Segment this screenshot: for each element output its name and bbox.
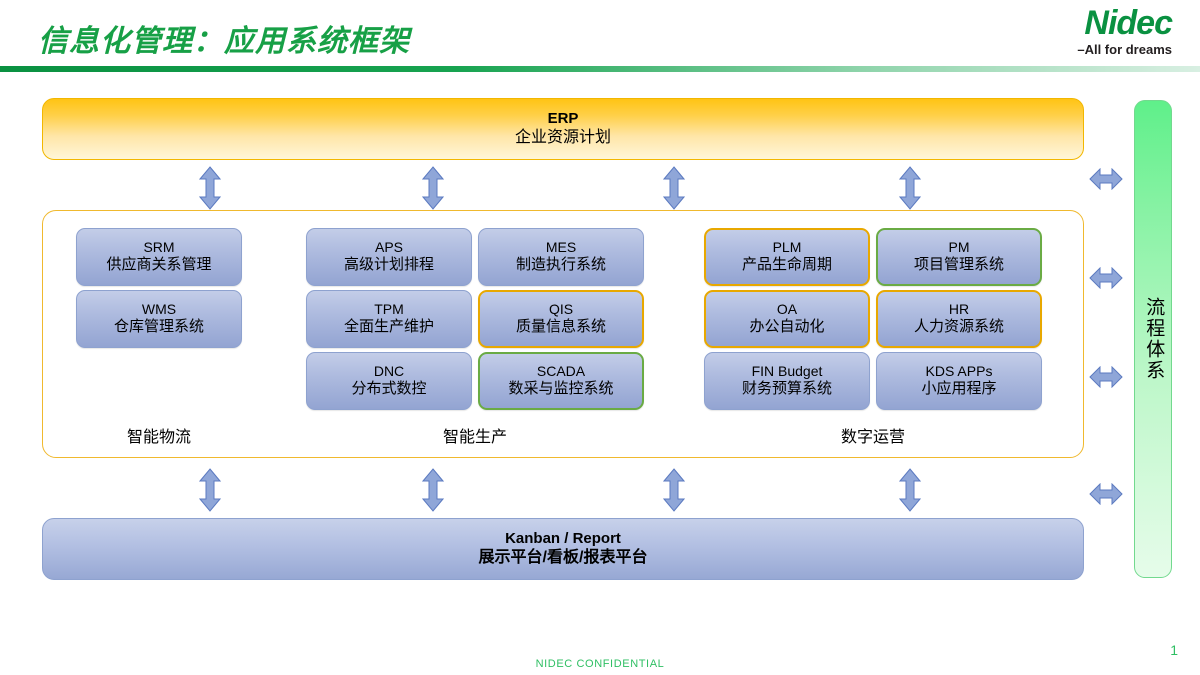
tile-dnc[interactable]: DNC 分布式数控 [306,352,472,410]
tile-code: OA [777,301,797,319]
vertical-arrow-erp-3 [663,166,685,210]
erp-subtitle: 企业资源计划 [515,128,611,148]
tile-code: PLM [773,239,802,257]
tile-oa[interactable]: OA 办公自动化 [704,290,870,348]
tile-plm[interactable]: PLM 产品生命周期 [704,228,870,286]
horizontal-arrow-2 [1089,267,1123,289]
tile-code: QIS [549,301,573,319]
confidential-notice: NIDEC CONFIDENTIAL [0,658,1200,670]
tile-wms[interactable]: WMS 仓库管理系统 [76,290,242,348]
tile-name: 质量信息系统 [516,318,606,337]
page-number: 1 [1170,642,1178,658]
tile-code: SRM [143,239,174,257]
tile-code: FIN Budget [752,363,823,381]
tile-code: PM [949,239,970,257]
tile-mes[interactable]: MES 制造执行系统 [478,228,644,286]
tile-code: DNC [374,363,404,381]
section-label-digital-ops: 数字运营 [704,423,1042,447]
tile-name: 财务预算系统 [742,380,832,399]
vertical-arrow-erp-2 [422,166,444,210]
tile-code: HR [949,301,969,319]
erp-banner[interactable]: ERP 企业资源计划 [42,98,1084,160]
tile-name: 供应商关系管理 [106,256,211,275]
vertical-arrow-kanban-4 [899,468,921,512]
tile-name: 分布式数控 [351,380,426,399]
nidec-logo: Nidec –All for dreams [992,6,1172,59]
tile-aps[interactable]: APS 高级计划排程 [306,228,472,286]
logo-wordmark: Nidec [992,6,1172,40]
tile-name: 制造执行系统 [516,256,606,275]
pillar-label: 流程体系 [1142,297,1164,381]
tile-name: 全面生产维护 [344,318,434,337]
tile-code: APS [375,239,403,257]
tile-code: KDS APPs [926,363,993,381]
horizontal-arrow-1 [1089,168,1123,190]
tile-name: 项目管理系统 [914,256,1004,275]
vertical-arrow-kanban-2 [422,468,444,512]
logo-tagline: –All for dreams [992,41,1172,59]
vertical-arrow-kanban-3 [663,468,685,512]
tile-name: 人力资源系统 [914,318,1004,337]
tile-code: WMS [142,301,176,319]
tile-hr[interactable]: HR 人力资源系统 [876,290,1042,348]
horizontal-arrow-3 [1089,366,1123,388]
tile-name: 小应用程序 [921,380,996,399]
page-title: 信息化管理：应用系统框架 [38,16,410,60]
tile-qis[interactable]: QIS 质量信息系统 [478,290,644,348]
tile-pm[interactable]: PM 项目管理系统 [876,228,1042,286]
tile-code: MES [546,239,576,257]
erp-title: ERP [548,110,579,129]
tile-scada[interactable]: SCADA 数采与监控系统 [478,352,644,410]
tile-name: 仓库管理系统 [114,318,204,337]
vertical-arrow-erp-1 [199,166,221,210]
tile-name: 产品生命周期 [742,256,832,275]
kanban-subtitle: 展示平台/看板/报表平台 [479,548,648,568]
tile-name: 高级计划排程 [344,256,434,275]
vertical-arrow-kanban-1 [199,468,221,512]
tile-kds-apps[interactable]: KDS APPs 小应用程序 [876,352,1042,410]
kanban-report-banner[interactable]: Kanban / Report 展示平台/看板/报表平台 [42,518,1084,580]
tile-srm[interactable]: SRM 供应商关系管理 [76,228,242,286]
horizontal-arrow-4 [1089,483,1123,505]
tile-code: TPM [374,301,404,319]
title-divider [0,66,1200,72]
section-label-production: 智能生产 [306,423,644,447]
process-system-pillar[interactable]: 流程体系 [1134,100,1172,578]
section-label-logistics: 智能物流 [76,423,242,447]
tile-fin-budget[interactable]: FIN Budget 财务预算系统 [704,352,870,410]
kanban-title: Kanban / Report [505,530,621,549]
slide-canvas: 信息化管理：应用系统框架 Nidec –All for dreams ERP 企… [0,0,1200,675]
tile-name: 办公自动化 [749,318,824,337]
tile-name: 数采与监控系统 [508,380,613,399]
vertical-arrow-erp-4 [899,166,921,210]
tile-code: SCADA [537,363,585,381]
tile-tpm[interactable]: TPM 全面生产维护 [306,290,472,348]
